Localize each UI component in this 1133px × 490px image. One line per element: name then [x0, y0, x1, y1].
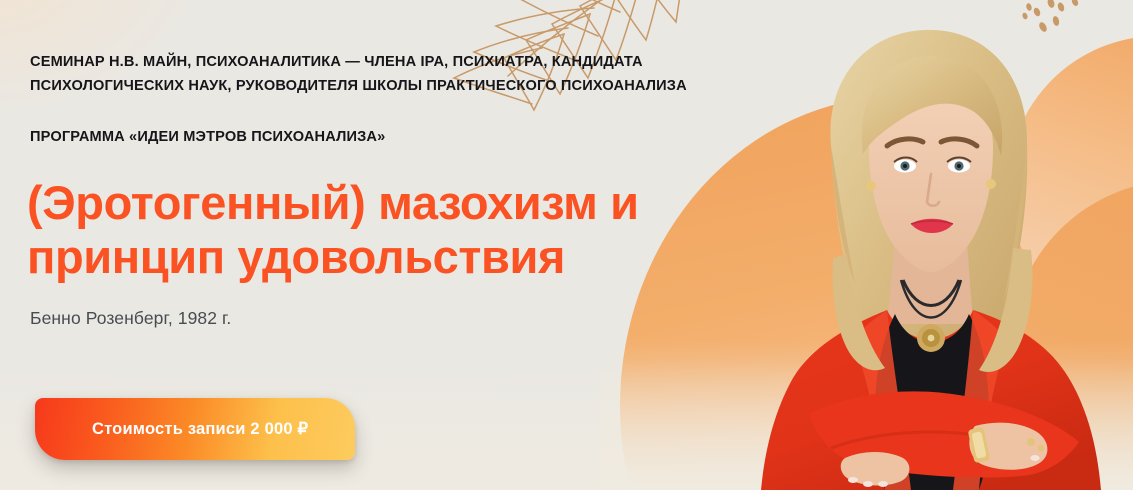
buy-recording-label: Стоимость записи 2 000 ₽ — [92, 419, 308, 439]
buy-recording-button[interactable]: Стоимость записи 2 000 ₽ — [35, 398, 355, 460]
page-title: (Эротогенный) мазохизм и принцип удоволь… — [27, 176, 747, 283]
seminar-eyebrow: СЕМИНАР Н.В. МАЙН, ПСИХОАНАЛИТИКА — ЧЛЕН… — [30, 50, 730, 98]
promo-banner: СЕМИНАР Н.В. МАЙН, ПСИХОАНАЛИТИКА — ЧЛЕН… — [0, 0, 1133, 490]
author-subtitle: Бенно Розенберг, 1982 г. — [30, 308, 231, 329]
presenter-portrait — [735, 18, 1125, 490]
program-label: ПРОГРАММА «ИДЕИ МЭТРОВ ПСИХОАНАЛИЗА» — [30, 129, 385, 145]
